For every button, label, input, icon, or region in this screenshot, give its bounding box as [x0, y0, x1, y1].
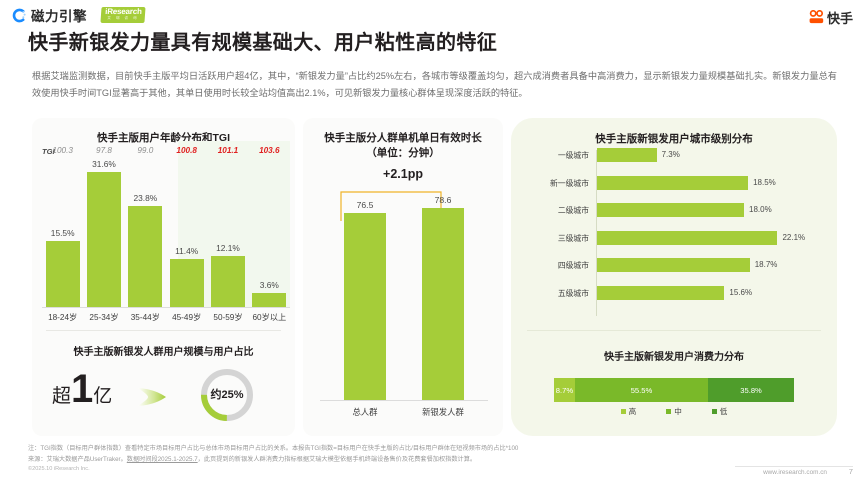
footnote-line-2: 来源：艾瑞大数据产品UserTraker。数据时间段2025.1-2025.7，…: [28, 455, 728, 466]
duration-x-label: 总人群: [327, 406, 403, 418]
city-tier-category-label: 二级城市: [523, 205, 589, 216]
city-tier-category-label: 五级城市: [523, 288, 589, 299]
age-x-label: 45-49岁: [164, 311, 210, 323]
iresearch-logo-text: iResearch: [105, 8, 142, 16]
chart-title-scale-share: 快手主版新银发人群用户规模与用户占比: [32, 343, 295, 358]
consumption-power-stacked-bar: 8.7%55.5%35.8%: [554, 378, 794, 402]
footnote-source-prefix: 来源：艾瑞大数据产品UserTraker。: [28, 456, 127, 463]
city-tier-row: 五级城市15.6%: [523, 286, 823, 300]
city-tier-value-label: 22.1%: [782, 233, 805, 242]
age-bar-fill: [211, 256, 245, 308]
city-tier-row: 一级城市7.3%: [523, 148, 823, 162]
city-tier-row: 二级城市18.0%: [523, 203, 823, 217]
legend-swatch-icon: [666, 409, 671, 414]
age-bar-value-label: 31.6%: [82, 159, 126, 169]
city-tier-bar: [597, 148, 657, 162]
tgi-value: 97.8: [87, 146, 121, 155]
page-title: 快手新银发力量具有规模基础大、用户粘性高的特征: [28, 26, 497, 55]
duration-title-main: 快手主版分人群单机单日有效时长: [324, 132, 482, 144]
cx-circle-icon: [10, 7, 27, 24]
age-x-label: 18-24岁: [40, 311, 86, 323]
footnote-line-1: 注：TGI指数（目标用户群体指数）查看特定市场目标用户占比与总体市场目标用户占比…: [28, 444, 728, 455]
divider-left: [46, 330, 281, 331]
duration-x-label: 新银发人群: [405, 406, 481, 418]
age-chart-plot: 15.5%31.6%23.8%11.4%12.1%3.6%: [42, 162, 290, 308]
kuaishou-icon: [809, 10, 824, 26]
iresearch-logo-subtext: 艾 瑞 咨 询: [107, 17, 139, 21]
age-bar-fill: [128, 206, 162, 308]
duration-title-sub: （单位：分钟）: [366, 147, 440, 159]
age-bar-fill: [170, 259, 204, 308]
age-bar: 15.5%: [46, 241, 80, 308]
tgi-value: 103.6: [252, 146, 286, 155]
consumption-power-legend-item: 低: [712, 406, 728, 417]
city-tier-bar: [597, 231, 777, 245]
scale-figure: 超 1 亿: [52, 371, 112, 408]
consumption-power-legend-item: 中: [666, 406, 682, 417]
legend-swatch-icon: [621, 409, 626, 414]
chart-title-daily-duration: 快手主版分人群单机单日有效时长 （单位：分钟）: [303, 131, 503, 161]
consumption-power-legend-item: 高: [621, 406, 637, 417]
city-tier-bar: [597, 286, 724, 300]
copyright-text: ©2025.10 iResearch Inc.: [28, 466, 90, 472]
age-x-label: 25-34岁: [81, 311, 127, 323]
tgi-value: 101.1: [211, 146, 245, 155]
scale-number: 1: [71, 371, 93, 407]
duration-bar-fill: [422, 208, 464, 400]
city-tier-row: 四级城市18.7%: [523, 258, 823, 272]
duration-bar: 78.6: [422, 208, 464, 400]
divider-right: [527, 330, 821, 331]
iresearch-logo: iResearch 艾 瑞 咨 询: [100, 7, 146, 23]
city-tier-bar: [597, 258, 750, 272]
age-bar-fill: [252, 293, 286, 308]
city-tier-value-label: 18.0%: [749, 205, 772, 214]
share-donut-center-label: 约25%: [198, 386, 256, 402]
age-bar: 31.6%: [87, 172, 121, 308]
page-number: 7: [849, 467, 853, 476]
city-tier-row: 新一级城市18.5%: [523, 176, 823, 190]
slide-root: 磁力引擎 iResearch 艾 瑞 咨 询 快手 快手新银发力量具有规模基础大…: [0, 0, 865, 487]
scale-prefix: 超: [52, 381, 71, 408]
age-bar-fill: [46, 241, 80, 308]
duration-bar-value-label: 76.5: [335, 200, 395, 210]
scale-unit: 亿: [93, 381, 112, 408]
age-x-label: 50-59岁: [205, 311, 251, 323]
city-tier-category-label: 三级城市: [523, 233, 589, 244]
age-bar: 11.4%: [170, 259, 204, 308]
brand-logo-bar: 磁力引擎 iResearch 艾 瑞 咨 询: [10, 5, 145, 25]
cixing-logo: 磁力引擎: [10, 5, 87, 25]
age-bar: 3.6%: [252, 293, 286, 308]
duration-delta-annotation: +2.1pp: [303, 167, 503, 181]
city-tier-row: 三级城市22.1%: [523, 231, 823, 245]
duration-bar-fill: [344, 213, 386, 400]
age-chart-axis: [42, 307, 290, 308]
consumption-power-legend: 高中低: [554, 406, 794, 417]
consumption-power-segment: 8.7%: [554, 378, 575, 402]
kuaishou-logo-text: 快手: [827, 8, 853, 27]
legend-label: 高: [629, 406, 637, 417]
footer-rule: [735, 466, 853, 467]
consumption-power-segment: 35.8%: [708, 378, 794, 402]
legend-swatch-icon: [712, 409, 717, 414]
city-tier-chart-plot: 一级城市7.3%新一级城市18.5%二级城市18.0%三级城市22.1%四级城市…: [523, 148, 823, 318]
city-tier-value-label: 7.3%: [662, 150, 680, 159]
age-bar-value-label: 12.1%: [206, 243, 250, 253]
age-bar-value-label: 23.8%: [123, 193, 167, 203]
footnote: 注：TGI指数（目标用户群体指数）查看特定市场目标用户占比与总体市场目标用户占比…: [28, 444, 728, 466]
city-tier-bar: [597, 176, 748, 190]
age-bar: 12.1%: [211, 256, 245, 308]
kuaishou-logo: 快手: [809, 8, 853, 27]
age-bar-value-label: 3.6%: [247, 280, 291, 290]
age-x-label: 60岁以上: [246, 311, 292, 323]
age-bar: 23.8%: [128, 206, 162, 308]
duration-chart-axis: [320, 400, 488, 401]
city-tier-value-label: 15.6%: [729, 288, 752, 297]
city-tier-category-label: 四级城市: [523, 260, 589, 271]
arrow-right-icon: [136, 382, 182, 412]
chart-title-city-tier: 快手主版新银发用户城市级别分布: [511, 132, 837, 147]
tgi-value: 99.0: [128, 146, 162, 155]
tgi-value: 100.3: [46, 146, 80, 155]
duration-bar: 76.5: [344, 213, 386, 400]
tgi-value: 100.8: [170, 146, 204, 155]
cixing-logo-text: 磁力引擎: [31, 5, 87, 25]
legend-label: 低: [720, 406, 728, 417]
age-chart-xlabels: 18-24岁25-34岁35-44岁45-49岁50-59岁60岁以上: [36, 311, 296, 325]
city-tier-category-label: 一级城市: [523, 150, 589, 161]
chart-title-consumption-power: 快手主版新银发用户消费力分布: [511, 348, 837, 363]
age-x-label: 35-44岁: [122, 311, 168, 323]
legend-label: 中: [674, 406, 682, 417]
lead-paragraph: 根据艾瑞监测数据，目前快手主版平均日活跃用户超4亿，其中，“新银发力量”占比约2…: [32, 68, 837, 102]
city-tier-category-label: 新一级城市: [523, 178, 589, 189]
footer-url: www.iresearch.com.cn: [763, 469, 827, 476]
city-tier-bar: [597, 203, 744, 217]
city-tier-value-label: 18.7%: [755, 260, 778, 269]
footnote-source-suffix: ，此页提到的新银发人群消费力指标根据艾瑞大模型依据手机终端设备售价及花费套餐加权…: [198, 456, 476, 463]
footnote-date-range: 数据时间段2025.1-2025.7: [127, 456, 198, 463]
city-tier-value-label: 18.5%: [753, 178, 776, 187]
age-chart-tgi-row: TGI 100.397.899.0100.8101.1103.6: [42, 146, 290, 160]
consumption-power-segment: 55.5%: [575, 378, 708, 402]
age-bar-value-label: 15.5%: [41, 228, 85, 238]
duration-bar-value-label: 78.6: [413, 195, 473, 205]
duration-chart-plot: 76.578.6: [326, 190, 482, 400]
age-bar-value-label: 11.4%: [165, 246, 209, 256]
age-bar-fill: [87, 172, 121, 308]
